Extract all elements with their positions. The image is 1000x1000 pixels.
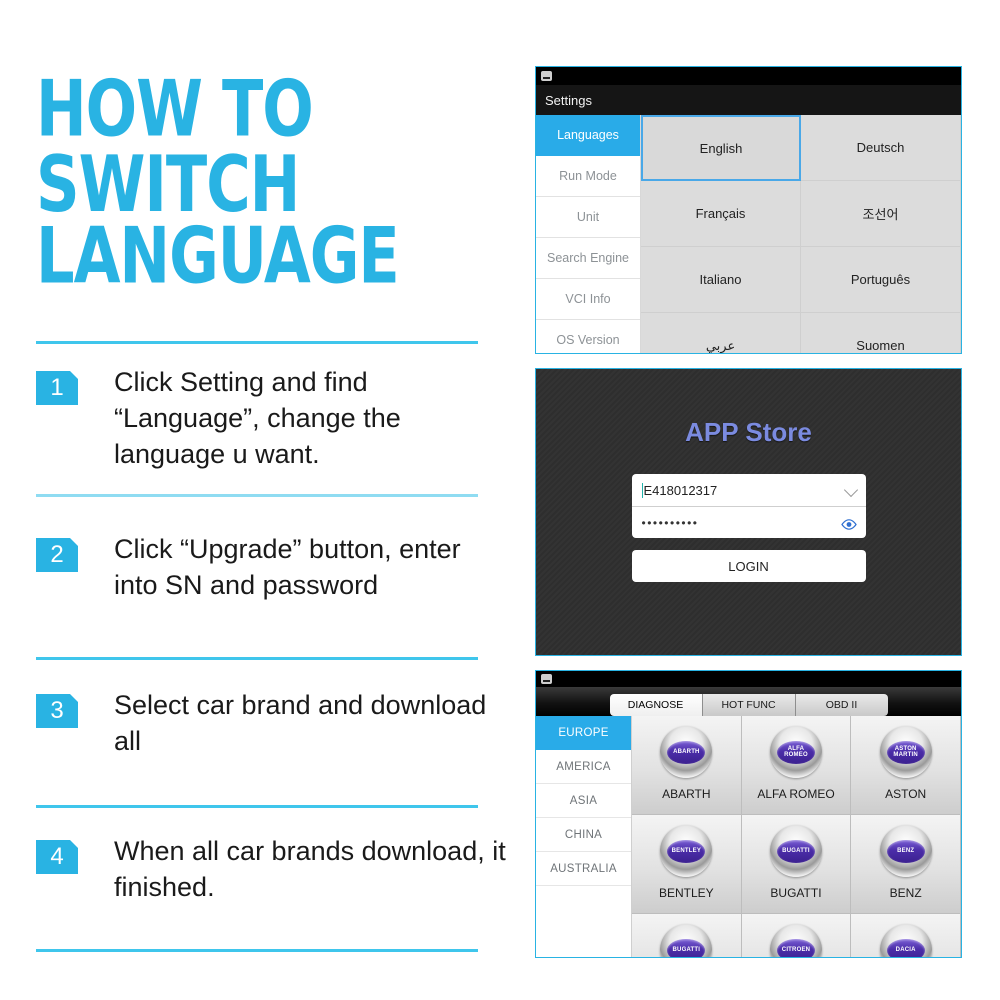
appstore-login-screen: APP Store E418012317 ••••••••••: [536, 369, 961, 655]
language-option-italiano[interactable]: Italiano: [641, 247, 801, 313]
text-cursor: [642, 483, 643, 498]
brand-logo-text: DACIA: [896, 947, 916, 953]
brand-logo-text: CITROEN: [782, 947, 810, 953]
language-option-francais[interactable]: Français: [641, 181, 801, 247]
app-window-icon: [541, 71, 552, 81]
language-option-korean[interactable]: 조선어: [801, 181, 961, 247]
step-3: 3 Select car brand and download all: [36, 688, 506, 760]
tab-group: DIAGNOSE HOT FUNC OBD II: [610, 694, 888, 716]
divider-2: [36, 657, 478, 660]
sidebar-item-label: Unit: [577, 210, 599, 224]
divider-3: [36, 805, 478, 808]
brand-logo-text: ALFA ROMEO: [784, 746, 808, 759]
tab-hot-func[interactable]: HOT FUNC: [703, 694, 796, 716]
sidebar-item-label: VCI Info: [565, 292, 610, 306]
brand-logo-text: ABARTH: [673, 749, 700, 755]
language-label: Italiano: [700, 272, 742, 287]
chevron-down-icon[interactable]: [843, 483, 857, 497]
sidebar-item-label: Languages: [557, 128, 619, 142]
step-text: Select car brand and download all: [114, 688, 506, 760]
page-title-line-1: HOW TO SWITCH: [36, 72, 546, 223]
sidebar-item-unit[interactable]: Unit: [536, 197, 640, 238]
appstore-login-screenshot-panel: APP Store E418012317 ••••••••••: [535, 368, 962, 656]
brand-logo-icon: BENTLEY: [660, 825, 712, 877]
region-sidebar: EUROPE AMERICA ASIA CHINA AUSTRALIA: [536, 716, 632, 958]
page-title-line-2: LANGUAGE: [36, 219, 546, 295]
language-option-deutsch[interactable]: Deutsch: [801, 115, 961, 181]
eye-icon[interactable]: [841, 517, 857, 528]
settings-screenshot-panel: Settings Languages Run Mode Unit Search …: [535, 66, 962, 354]
brand-logo-icon: CITROEN: [770, 924, 822, 958]
app-window-icon: [541, 674, 552, 684]
sidebar-item-label: CHINA: [565, 829, 602, 841]
brand-tile-abarth[interactable]: ABARTH ABARTH: [632, 716, 742, 815]
brand-logo-icon: BUGATTI: [660, 924, 712, 958]
sidebar-item-label: Run Mode: [559, 169, 617, 183]
step-1: 1 Click Setting and find “Language”, cha…: [36, 365, 506, 473]
tab-bar: DIAGNOSE HOT FUNC OBD II: [536, 687, 961, 716]
brand-logo-text: BUGATTI: [673, 947, 701, 953]
login-form: E418012317 ••••••••••: [632, 474, 866, 538]
brand-logo-icon: BUGATTI: [770, 825, 822, 877]
password-input[interactable]: ••••••••••: [642, 516, 699, 530]
brand-logo-icon: ABARTH: [660, 726, 712, 778]
sidebar-item-languages[interactable]: Languages: [536, 115, 640, 156]
brand-logo-text: BENZ: [897, 848, 914, 854]
diagnose-body: EUROPE AMERICA ASIA CHINA AUSTRALIA: [536, 716, 961, 958]
language-label: Français: [696, 206, 746, 221]
sidebar-item-vci-info[interactable]: VCI Info: [536, 279, 640, 320]
password-field-row[interactable]: ••••••••••: [632, 506, 866, 538]
poster-root: HOW TO SWITCH LANGUAGE 1 Click Setting a…: [0, 0, 1000, 1000]
brand-label: BENTLEY: [659, 886, 714, 900]
brand-tile-bugatti-2[interactable]: BUGATTI BUGATTI: [632, 914, 742, 958]
brand-logo-icon: ASTON MARTIN: [880, 726, 932, 778]
sidebar-item-search-engine[interactable]: Search Engine: [536, 238, 640, 279]
sidebar-item-china[interactable]: CHINA: [536, 818, 631, 852]
language-label: Deutsch: [857, 140, 905, 155]
sidebar-item-europe[interactable]: EUROPE: [536, 716, 631, 750]
divider-top: [36, 341, 478, 344]
brand-label: ABARTH: [662, 787, 710, 801]
instructions-column: HOW TO SWITCH LANGUAGE 1 Click Setting a…: [0, 0, 530, 1000]
step-4: 4 When all car brands download, it finis…: [36, 834, 506, 906]
sidebar-item-label: ASIA: [570, 795, 597, 807]
brand-logo-text: BENTLEY: [672, 848, 701, 854]
divider-bottom: [36, 949, 478, 952]
sn-field-row[interactable]: E418012317: [632, 474, 866, 506]
brand-label: ALFA ROMEO: [757, 787, 834, 801]
settings-body: Languages Run Mode Unit Search Engine VC…: [536, 115, 961, 354]
login-button[interactable]: LOGIN: [632, 550, 866, 582]
brand-label: BENZ: [890, 886, 922, 900]
language-option-arabic[interactable]: عربي: [641, 313, 801, 354]
diagnose-screenshot-panel: DIAGNOSE HOT FUNC OBD II EUROPE AMERICA: [535, 670, 962, 958]
step-number-badge: 2: [36, 538, 78, 572]
sidebar-item-os-version[interactable]: OS Version: [536, 320, 640, 354]
tab-diagnose[interactable]: DIAGNOSE: [610, 694, 703, 716]
brand-tile-citroen[interactable]: CITROEN CITROEN: [742, 914, 852, 958]
step-text: Click “Upgrade” button, enter into SN an…: [114, 532, 506, 604]
sidebar-item-run-mode[interactable]: Run Mode: [536, 156, 640, 197]
sidebar-item-label: AMERICA: [556, 761, 611, 773]
brand-tile-aston[interactable]: ASTON MARTIN ASTON: [851, 716, 961, 815]
brand-tile-dacia[interactable]: DACIA DACIA: [851, 914, 961, 958]
tab-obd-ii[interactable]: OBD II: [796, 694, 888, 716]
sidebar-item-label: Search Engine: [547, 251, 629, 265]
status-bar: [536, 67, 961, 85]
language-label: Português: [851, 272, 910, 287]
brand-logo-icon: BENZ: [880, 825, 932, 877]
language-option-portugues[interactable]: Português: [801, 247, 961, 313]
step-number-badge: 1: [36, 371, 78, 405]
step-number-badge: 4: [36, 840, 78, 874]
sidebar-item-label: OS Version: [556, 333, 619, 347]
divider-1: [36, 494, 478, 497]
sidebar-item-america[interactable]: AMERICA: [536, 750, 631, 784]
step-text: Click Setting and find “Language”, chang…: [114, 365, 506, 473]
brand-grid: ABARTH ABARTH ALFA ROMEO ALFA ROMEO ASTO…: [632, 716, 961, 958]
brand-logo-text: ASTON MARTIN: [893, 746, 918, 759]
sidebar-item-australia[interactable]: AUSTRALIA: [536, 852, 631, 886]
language-label: عربي: [706, 338, 735, 354]
language-label: 조선어: [863, 204, 899, 223]
brand-logo-icon: ALFA ROMEO: [770, 726, 822, 778]
status-bar: [536, 671, 961, 687]
step-number-badge: 3: [36, 694, 78, 728]
language-option-english[interactable]: English: [641, 115, 801, 181]
language-grid: English Deutsch Français 조선어 Italiano Po…: [641, 115, 961, 354]
settings-sidebar: Languages Run Mode Unit Search Engine VC…: [536, 115, 641, 354]
brand-label: ASTON: [885, 787, 926, 801]
brand-logo-icon: DACIA: [880, 924, 932, 958]
language-label: English: [700, 141, 743, 156]
tab-label: HOT FUNC: [721, 699, 775, 711]
brand-tile-bugatti[interactable]: BUGATTI BUGATTI: [742, 815, 852, 914]
sn-input[interactable]: E418012317: [644, 483, 718, 498]
brand-tile-benz[interactable]: BENZ BENZ: [851, 815, 961, 914]
language-option-suomen[interactable]: Suomen: [801, 313, 961, 354]
sidebar-item-label: AUSTRALIA: [550, 863, 617, 875]
language-label: Suomen: [856, 338, 904, 353]
window-title: Settings: [545, 93, 592, 108]
sidebar-item-label: EUROPE: [558, 727, 608, 739]
page-title: HOW TO SWITCH LANGUAGE: [36, 72, 536, 283]
sidebar-item-asia[interactable]: ASIA: [536, 784, 631, 818]
brand-tile-bentley[interactable]: BENTLEY BENTLEY: [632, 815, 742, 914]
tab-label: OBD II: [826, 699, 858, 711]
brand-tile-alfa-romeo[interactable]: ALFA ROMEO ALFA ROMEO: [742, 716, 852, 815]
tab-label: DIAGNOSE: [628, 699, 683, 711]
brand-label: BUGATTI: [770, 886, 821, 900]
window-title-bar: Settings: [536, 85, 961, 115]
appstore-title: APP Store: [685, 417, 812, 448]
step-2: 2 Click “Upgrade” button, enter into SN …: [36, 532, 506, 604]
brand-logo-text: BUGATTI: [782, 848, 810, 854]
step-text: When all car brands download, it finishe…: [114, 834, 506, 906]
